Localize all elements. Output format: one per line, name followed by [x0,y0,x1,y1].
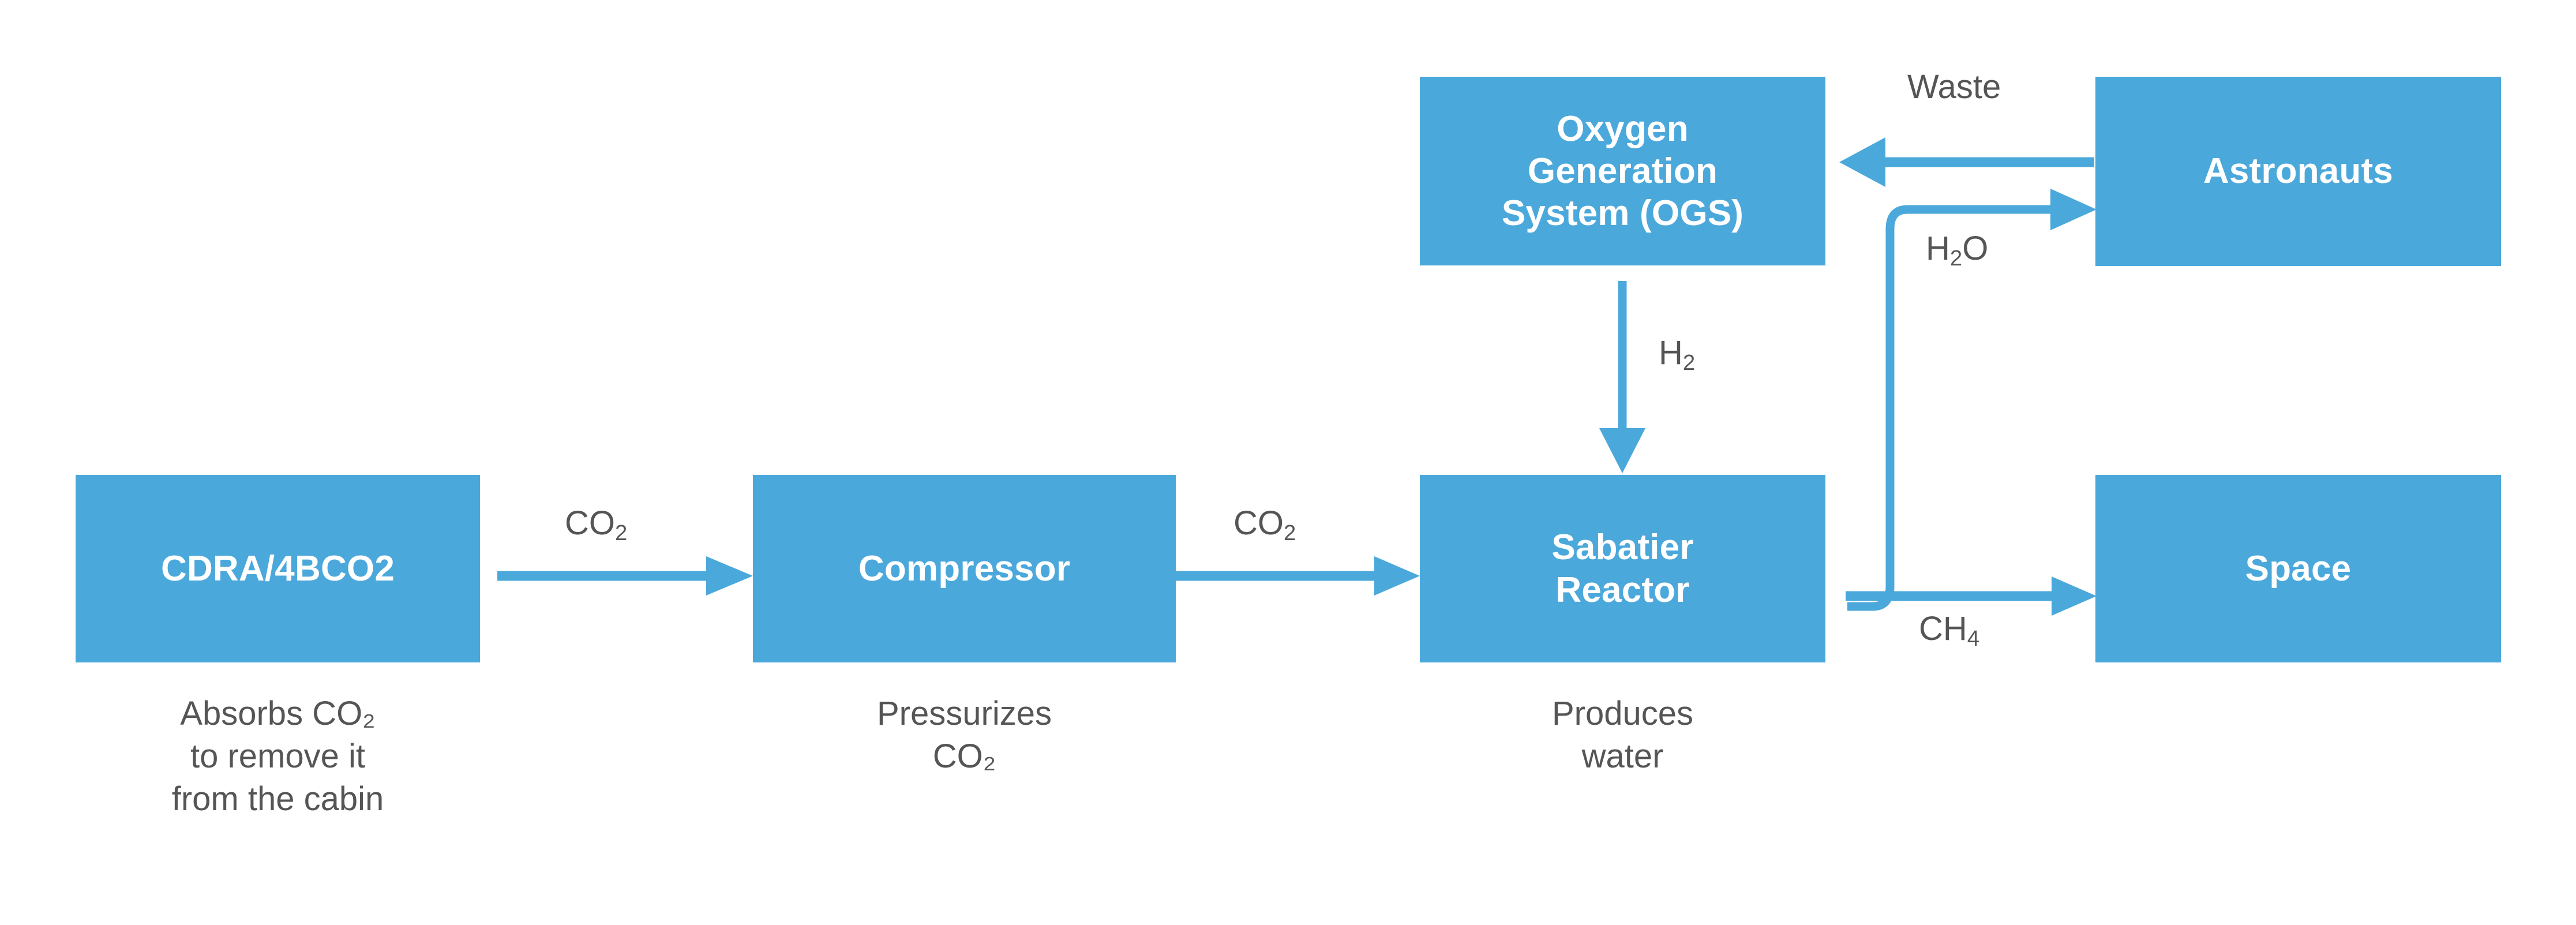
edge-label-co2-2-subscript: 2 [1284,520,1296,545]
edge-ogs-to-sabatier [1599,281,1645,473]
edge-label-h2o-subscript: 2 [1950,246,1962,271]
caption-compressor: Pressurizes CO₂ [718,692,1210,778]
node-ogs-label-line-3: System (OGS) [1502,192,1743,234]
edge-label-ch4-text: CH [1919,610,1967,647]
node-cdra[interactable]: CDRA/4BCO2 [76,475,480,662]
node-cdra-label: CDRA/4BCO2 [161,548,395,590]
edge-cdra-to-compressor [497,556,753,596]
node-space[interactable]: Space [2095,475,2501,662]
edge-label-h2o: H2O [1926,232,1988,265]
node-sabatier-reactor[interactable]: Sabatier Reactor [1420,475,1825,662]
edge-label-co2-compressor-sabatier: CO2 [1233,507,1296,540]
edge-label-h2: H2 [1659,336,1695,370]
edge-label-h2o-tail: O [1962,230,1988,267]
edge-astronauts-to-ogs [1839,137,2094,187]
edge-label-co2-cdra-compressor: CO2 [565,507,627,540]
edge-sabatier-to-space [1846,576,2097,616]
caption-cdra: Absorbs CO₂ to remove it from the cabin [29,692,526,821]
edge-label-ch4: CH4 [1919,612,1979,646]
node-astronauts-label: Astronauts [2203,150,2393,192]
edge-label-co2-2-text: CO [1233,504,1284,542]
node-sabatier-label-line-1: Sabatier [1551,526,1693,568]
edge-label-h2-text: H [1659,334,1683,372]
node-oxygen-generation-system[interactable]: Oxygen Generation System (OGS) [1420,77,1825,265]
node-sabatier-label-line-2: Reactor [1555,569,1689,611]
edge-label-waste: Waste [1907,70,2001,104]
node-compressor-label: Compressor [858,548,1070,590]
diagram-canvas: CDRA/4BCO2 Compressor Sabatier Reactor S… [0,0,2576,925]
node-compressor[interactable]: Compressor [753,475,1176,662]
edge-label-h2-subscript: 2 [1683,350,1695,375]
caption-sabatier-reactor: Produces water [1385,692,1860,778]
node-ogs-label-line-2: Generation [1528,150,1718,192]
edge-compressor-to-sabatier [1176,556,1420,596]
node-space-label: Space [2245,548,2352,590]
edge-label-co2-text: CO [565,504,615,542]
node-ogs-label-line-1: Oxygen [1557,108,1689,150]
edge-label-h2o-text: H [1926,230,1950,267]
edge-label-ch4-subscript: 4 [1967,626,1979,651]
node-astronauts[interactable]: Astronauts [2095,77,2501,266]
edge-label-co2-subscript: 2 [615,520,627,545]
edge-label-waste-text: Waste [1907,68,2001,106]
